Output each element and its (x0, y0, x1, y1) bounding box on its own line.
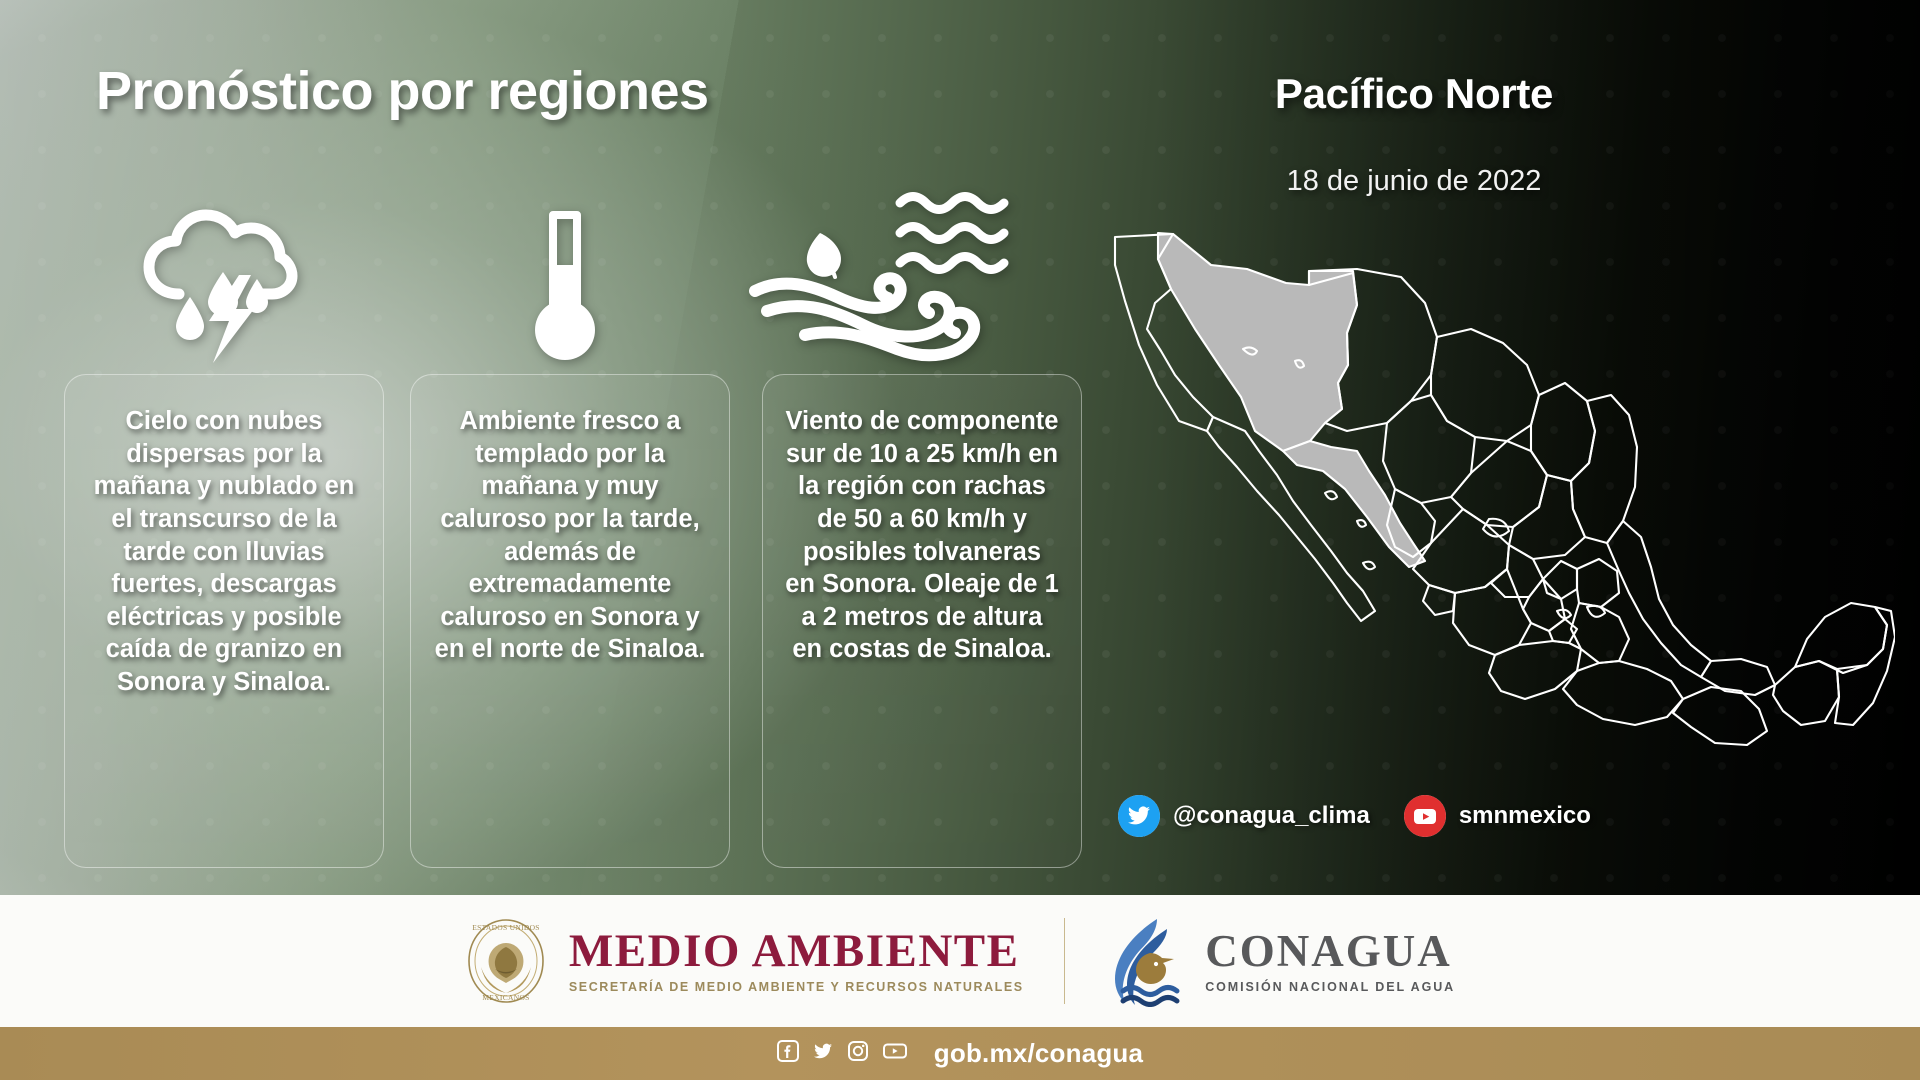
social-handle-text: smnmexico (1459, 802, 1591, 830)
logo-group: ESTADOS UNIDOS MEXICANOS MEDIO AMBIENTE … (465, 915, 1455, 1007)
logo-divider (1064, 918, 1066, 1004)
twitter-icon (1118, 795, 1160, 837)
twitter-icon[interactable] (812, 1040, 834, 1067)
map-state-sonora (1158, 233, 1357, 451)
conagua-title: CONAGUA (1205, 929, 1455, 974)
instagram-icon[interactable] (847, 1040, 869, 1067)
forecast-date: 18 de junio de 2022 (1287, 165, 1542, 198)
semarnat-title: MEDIO AMBIENTE (569, 928, 1024, 975)
conagua-eagle-water-icon (1105, 915, 1185, 1007)
map-state-hidalgo (1577, 559, 1619, 607)
youtube-icon[interactable] (882, 1040, 908, 1067)
map-state-oaxaca (1563, 661, 1683, 725)
map-state-tamaulipas (1571, 395, 1637, 543)
map-state-queretaro (1543, 561, 1577, 599)
thermometer-icon (455, 195, 675, 365)
wind-waves-icon (740, 180, 1040, 365)
social-account-youtube[interactable]: smnmexico (1404, 795, 1591, 837)
semarnat-logo: ESTADOS UNIDOS MEXICANOS MEDIO AMBIENTE … (465, 917, 1024, 1005)
mexico-map (1095, 225, 1895, 755)
youtube-icon (1404, 795, 1446, 837)
website-url[interactable]: gob.mx/conagua (934, 1038, 1143, 1069)
forecast-card-temperature: Ambiente fresco a templado por la mañana… (410, 374, 730, 868)
mexican-coat-of-arms-icon: ESTADOS UNIDOS MEXICANOS (465, 917, 547, 1005)
map-state-san-luis-potosi (1509, 475, 1585, 559)
svg-text:ESTADOS UNIDOS: ESTADOS UNIDOS (472, 923, 540, 932)
map-state-michoacan (1453, 569, 1531, 655)
footer-logo-band: ESTADOS UNIDOS MEXICANOS MEDIO AMBIENTE … (0, 895, 1920, 1027)
bottom-social-icons (777, 1040, 908, 1067)
map-state-durango (1383, 395, 1475, 503)
conagua-logo: CONAGUA COMISIÓN NACIONAL DEL AGUA (1105, 915, 1455, 1007)
page-title: Pronóstico por regiones (96, 60, 709, 122)
storm-cloud-rain-lightning-icon (110, 195, 330, 365)
map-state-zacatecas (1451, 441, 1547, 527)
forecast-poster: Pronóstico por regiones Pacífico Norte 1… (0, 0, 1920, 1080)
bottom-social-bar: gob.mx/conagua (0, 1027, 1920, 1080)
map-state-sinaloa (1283, 441, 1425, 567)
map-state-colima (1423, 585, 1455, 615)
social-handle-text: @conagua_clima (1173, 802, 1370, 830)
poster-stage: Pronóstico por regiones Pacífico Norte 1… (0, 0, 1920, 895)
forecast-card-text: Cielo con nubes dispersas por la mañana … (87, 405, 361, 699)
svg-text:MEXICANOS: MEXICANOS (482, 993, 529, 1002)
map-state-yucatan (1795, 603, 1887, 673)
map-state-guerrero (1489, 641, 1581, 699)
forecast-card-sky: Cielo con nubes dispersas por la mañana … (64, 374, 384, 868)
map-state-quintana-roo (1835, 607, 1895, 725)
forecast-card-text: Viento de componente sur de 10 a 25 km/h… (785, 405, 1059, 666)
forecast-card-text: Ambiente fresco a templado por la mañana… (433, 405, 707, 666)
social-account-twitter[interactable]: @conagua_clima (1118, 795, 1370, 837)
map-state-campeche (1773, 661, 1839, 725)
conagua-subtitle: COMISIÓN NACIONAL DEL AGUA (1205, 981, 1455, 994)
social-handles-row: @conagua_clima smnmexico (1118, 795, 1591, 837)
region-title: Pacífico Norte (1275, 70, 1553, 118)
semarnat-subtitle: SECRETARÍA DE MEDIO AMBIENTE Y RECURSOS … (569, 981, 1024, 994)
facebook-icon[interactable] (777, 1040, 799, 1067)
forecast-card-wind: Viento de componente sur de 10 a 25 km/h… (762, 374, 1082, 868)
map-state-coahuila (1431, 329, 1539, 441)
